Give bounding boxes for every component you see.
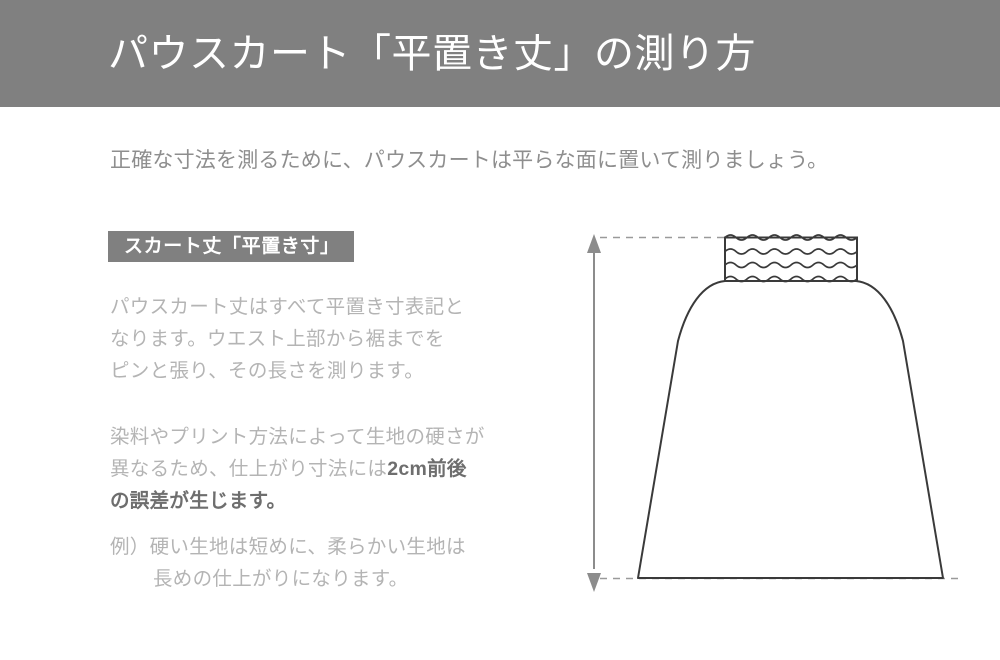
tolerance-value-emphasis: 2cm前後 (387, 458, 467, 480)
tolerance-statement-emphasis: の誤差が生じます。 (110, 490, 286, 512)
paragraph-tolerance-note: 染料やプリント方法によって生地の硬さが 異なるため、仕上がり寸法には2cm前後 … (110, 421, 485, 517)
lead-sentence: 正確な寸法を測るために、パウスカートは平らな面に置いて測りましょう。 (110, 146, 828, 175)
paragraph-example-line-1: 例）硬い生地は短めに、柔らかい生地は (110, 531, 466, 563)
paragraph-note-line-2-plain: 異なるため、仕上がり寸法には (110, 458, 387, 480)
page-title: パウスカート「平置き丈」の測り方 (108, 34, 756, 74)
dimension-arrowhead-bottom (587, 573, 601, 592)
skirt-length-dimension-arrow (587, 234, 601, 592)
paragraph-note-line-3: の誤差が生じます。 (110, 485, 485, 517)
paragraph-note-line-2: 異なるため、仕上がり寸法には2cm前後 (110, 453, 485, 485)
dimension-arrowhead-top (587, 234, 601, 253)
paragraph-intro-line-2: なります。ウエスト上部から裾までを (110, 323, 464, 355)
paragraph-intro-line-1: パウスカート丈はすべて平置き寸表記と (110, 291, 464, 323)
waistband-outline (725, 238, 857, 282)
section-badge: スカート丈「平置き寸」 (108, 231, 354, 262)
paragraph-intro: パウスカート丈はすべて平置き寸表記と なります。ウエスト上部から裾までを ピンと… (110, 291, 464, 387)
infographic-page: パウスカート「平置き丈」の測り方 正確な寸法を測るために、パウスカートは平らな面… (0, 0, 1000, 660)
paragraph-intro-line-3: ピンと張り、その長さを測ります。 (110, 355, 464, 387)
section-badge-label: スカート丈「平置き寸」 (124, 237, 340, 256)
paragraph-note-line-1: 染料やプリント方法によって生地の硬さが (110, 421, 485, 453)
skirt-diagram (560, 215, 980, 605)
header-bar: パウスカート「平置き丈」の測り方 (0, 0, 1000, 107)
paragraph-example-line-2: 長めの仕上がりになります。 (110, 563, 466, 595)
skirt-body-outline (638, 281, 943, 578)
paragraph-example-line-2-text: 長めの仕上がりになります。 (110, 563, 408, 595)
paragraph-example: 例）硬い生地は短めに、柔らかい生地は 長めの仕上がりになります。 (110, 531, 466, 595)
